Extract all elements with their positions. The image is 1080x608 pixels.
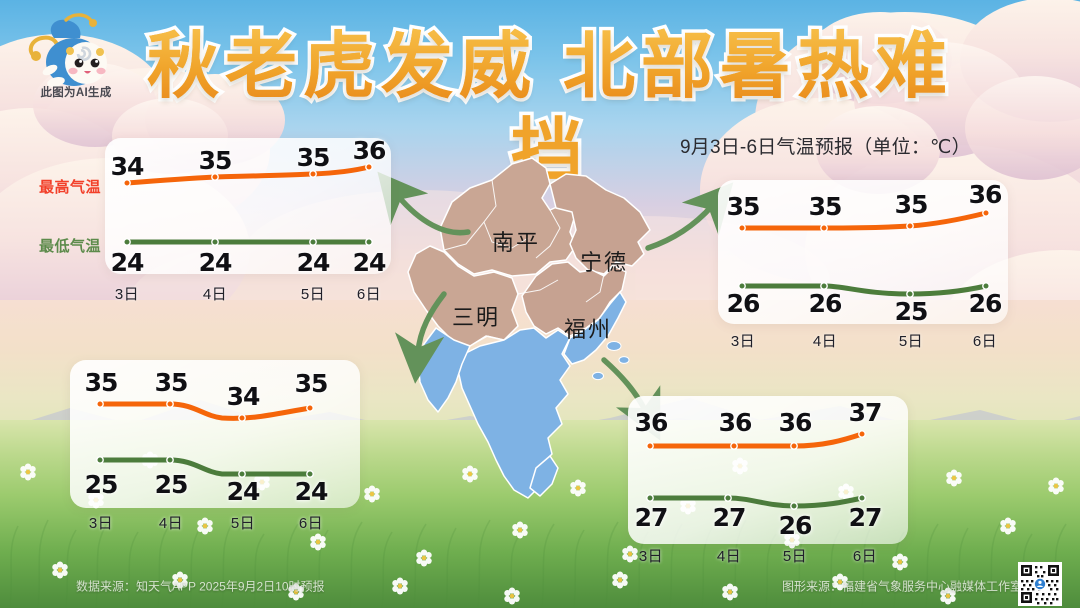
day-label: 3日	[76, 512, 126, 533]
day-label: 3日	[626, 545, 676, 566]
map-label-nanping: 南平	[492, 225, 540, 257]
low-value: 27	[704, 503, 754, 532]
low-value: 24	[102, 248, 152, 277]
low-value: 24	[344, 248, 394, 277]
high-temp-line	[742, 213, 986, 228]
day-label: 5日	[886, 330, 936, 351]
low-value: 26	[718, 289, 768, 318]
low-value: 24	[288, 248, 338, 277]
high-temp-line	[100, 404, 310, 418]
low-temp-line	[100, 460, 310, 474]
high-value: 35	[146, 368, 196, 397]
high-value: 35	[800, 192, 850, 221]
high-value: 36	[626, 408, 676, 437]
high-value: 35	[886, 190, 936, 219]
data-source-note: 数据来源：知天气APP 2025年9月2日10时预报	[76, 578, 325, 595]
high-value: 36	[770, 408, 820, 437]
legend-high-label: 最高气温	[39, 176, 101, 197]
day-label: 3日	[102, 283, 152, 304]
high-value: 36	[710, 408, 760, 437]
page-title: 秋老虎发威 北部暑热难挡	[120, 24, 980, 110]
forecast-header: 9月3日-6日气温预报（单位：℃）	[680, 132, 971, 159]
day-label: 4日	[190, 283, 240, 304]
day-label: 6日	[344, 283, 394, 304]
low-value: 26	[960, 289, 1010, 318]
low-value: 27	[626, 503, 676, 532]
low-value: 25	[146, 470, 196, 499]
high-value: 35	[718, 192, 768, 221]
day-label: 5日	[770, 545, 820, 566]
day-label: 4日	[704, 545, 754, 566]
day-label: 6日	[286, 512, 336, 533]
map-label-fuzhou: 福州	[564, 312, 612, 344]
low-value: 25	[886, 297, 936, 326]
graphic-source-note: 图形来源：福建省气象服务中心融媒体工作室	[782, 578, 1022, 595]
low-value: 24	[190, 248, 240, 277]
day-label: 6日	[960, 330, 1010, 351]
map-label-ningde: 宁德	[580, 245, 628, 277]
legend-low-label: 最低气温	[39, 235, 101, 256]
low-value: 26	[770, 511, 820, 540]
low-value: 26	[800, 289, 850, 318]
infographic-canvas: 此图为AI生成 秋老虎发威 北部暑热难挡 秋老虎发威 北部暑热难挡 9月3日-6…	[0, 0, 1080, 608]
high-value: 35	[76, 368, 126, 397]
day-label: 6日	[840, 545, 890, 566]
high-value: 36	[960, 180, 1010, 209]
day-label: 5日	[218, 512, 268, 533]
high-value: 35	[190, 146, 240, 175]
high-value: 34	[218, 382, 268, 411]
low-value: 27	[840, 503, 890, 532]
ai-generated-notice: 此图为AI生成	[16, 84, 136, 100]
low-temp-line	[742, 286, 986, 294]
high-value: 34	[102, 152, 152, 181]
map-label-sanming: 三明	[452, 300, 500, 332]
high-value: 37	[840, 398, 890, 427]
day-label: 3日	[718, 330, 768, 351]
high-value: 36	[344, 136, 394, 165]
day-label: 4日	[800, 330, 850, 351]
low-temp-line	[650, 498, 862, 506]
low-value: 24	[286, 477, 336, 506]
low-value: 24	[218, 477, 268, 506]
day-label: 4日	[146, 512, 196, 533]
low-value: 25	[76, 470, 126, 499]
day-label: 5日	[288, 283, 338, 304]
high-value: 35	[288, 143, 338, 172]
qr-code[interactable]	[1012, 562, 1072, 606]
high-value: 35	[286, 369, 336, 398]
